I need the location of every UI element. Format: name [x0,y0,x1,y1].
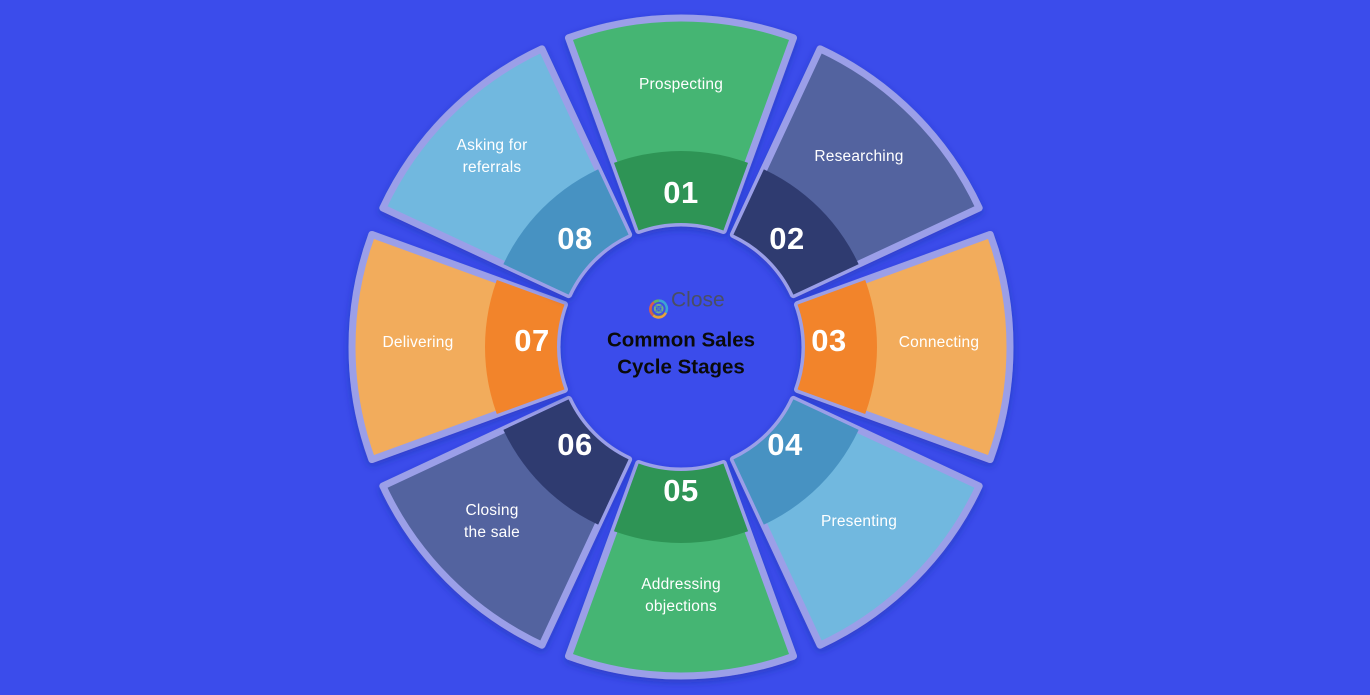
segment-label-06-line2: the sale [464,524,520,541]
center-title-line2: Cycle Stages [617,355,745,378]
segment-label-04: Presenting [821,513,897,530]
segment-number-07: 07 [514,323,549,358]
brand-name: Close [671,289,725,312]
segment-label-05-line1: Addressing [641,576,721,593]
segment-label-08-line2: referrals [463,159,522,176]
segment-label-02: Researching [814,148,903,165]
segment-number-06: 06 [557,427,592,462]
segment-label-01: Prospecting [639,76,723,93]
segment-number-05: 05 [663,473,698,508]
segment-number-01: 01 [663,175,698,210]
infographic-canvas: Prospecting01Researching02Connecting03Pr… [0,0,1370,695]
segment-label-07: Delivering [383,334,454,351]
segment-number-08: 08 [557,221,592,256]
center-hub: Close Common Sales Cycle Stages [607,289,755,379]
sales-cycle-wheel: Prospecting01Researching02Connecting03Pr… [0,0,1370,695]
segment-label-05-line2: objections [645,598,717,615]
close-ring-logo-icon [650,301,667,318]
segment-label-06-line1: Closing [465,502,518,519]
segment-number-02: 02 [769,221,804,256]
segment-label-03: Connecting [899,334,979,351]
segment-number-03: 03 [811,323,846,358]
segment-label-08-line1: Asking for [457,137,528,154]
segment-number-04: 04 [767,427,803,462]
center-title-line1: Common Sales [607,328,755,351]
